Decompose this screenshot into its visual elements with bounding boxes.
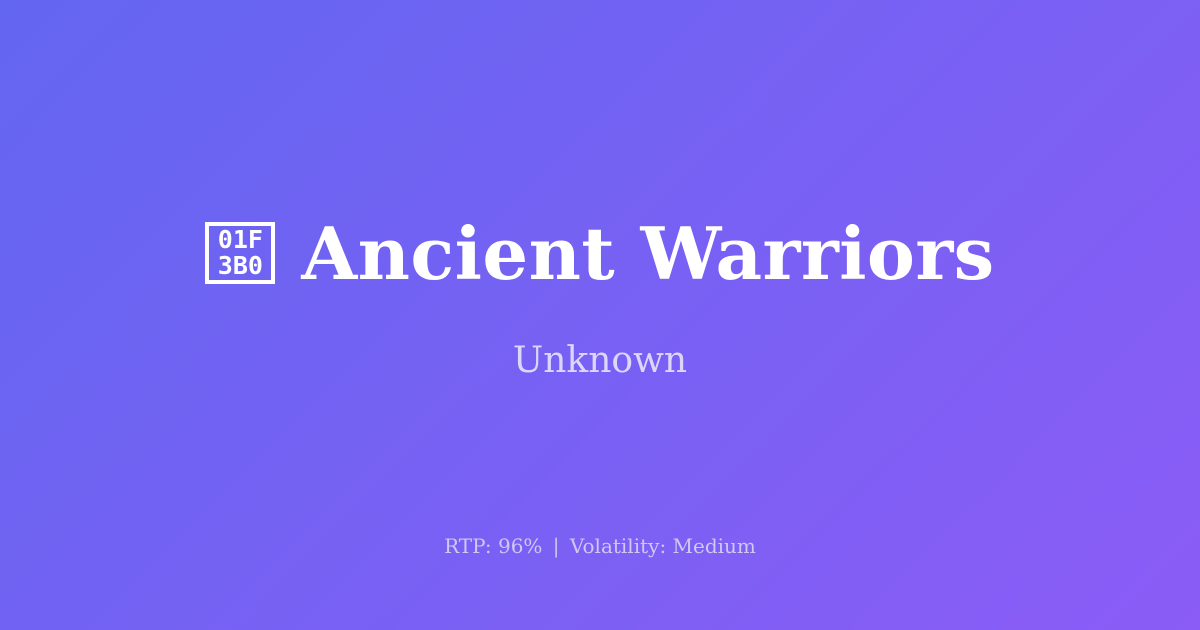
game-meta-strip: RTP: 96% | Volatility: Medium — [0, 536, 1200, 556]
glyph-codepoint-top: 01F — [218, 227, 263, 253]
game-preview-card: 01F 3B0 Ancient Warriors Unknown RTP: 96… — [0, 0, 1200, 630]
rtp-label: RTP: 96% — [444, 534, 542, 558]
meta-separator: | — [549, 534, 564, 558]
glyph-codepoint-bottom: 3B0 — [218, 253, 263, 279]
slot-machine-icon: 01F 3B0 — [205, 222, 275, 284]
page-title: Ancient Warriors — [301, 217, 994, 290]
title-row: 01F 3B0 Ancient Warriors — [0, 217, 1200, 290]
volatility-label: Volatility: Medium — [570, 534, 756, 558]
provider-name: Unknown — [513, 343, 687, 379]
hero-block: 01F 3B0 Ancient Warriors Unknown — [0, 217, 1200, 378]
